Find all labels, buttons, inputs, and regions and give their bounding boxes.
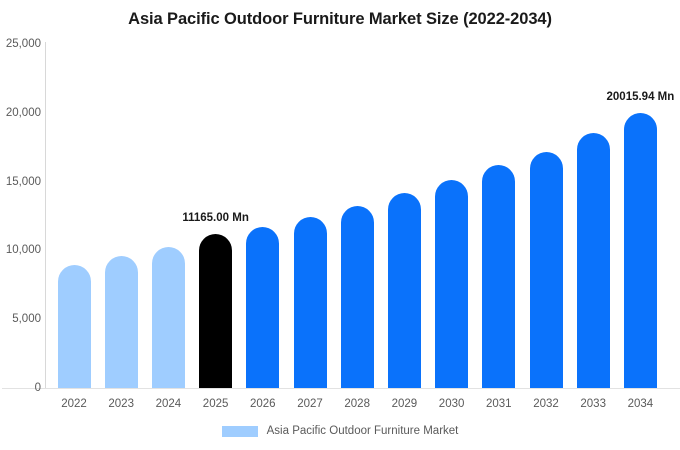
bar[interactable] — [58, 265, 91, 388]
bar-column[interactable] — [388, 44, 421, 388]
bar[interactable] — [482, 165, 515, 388]
x-axis-tick-label: 2023 — [108, 398, 134, 410]
bar[interactable] — [341, 206, 374, 388]
bar-column[interactable] — [530, 44, 563, 388]
x-axis-tick-label: 2028 — [344, 398, 370, 410]
bar-column[interactable] — [577, 44, 610, 388]
bar[interactable] — [199, 234, 232, 388]
bar[interactable] — [246, 227, 279, 388]
x-axis-line — [2, 388, 680, 389]
bar-column[interactable] — [246, 44, 279, 388]
x-axis-tick-label: 2029 — [392, 398, 418, 410]
x-axis-tick-label: 2022 — [61, 398, 87, 410]
y-axis-tick-label: 5,000 — [1, 313, 41, 325]
y-axis-tick-label: 25,000 — [1, 38, 41, 50]
bar-value-label: 11165.00 Mn — [182, 212, 249, 224]
legend-swatch-icon — [222, 426, 258, 437]
chart-title: Asia Pacific Outdoor Furniture Market Si… — [0, 10, 680, 29]
y-axis-tick-label: 20,000 — [1, 107, 41, 119]
bar[interactable] — [152, 247, 185, 388]
bar[interactable] — [577, 133, 610, 388]
x-axis-tick-label: 2026 — [250, 398, 276, 410]
bar[interactable] — [624, 113, 657, 388]
bar-column[interactable] — [482, 44, 515, 388]
x-axis-tick-label: 2034 — [628, 398, 654, 410]
bar-column[interactable] — [58, 44, 91, 388]
plot-area — [45, 44, 680, 388]
y-axis-tick-labels: 05,00010,00015,00020,00025,000 — [0, 0, 41, 450]
x-axis-tick-label: 2032 — [533, 398, 559, 410]
x-axis-tick-label: 2033 — [580, 398, 606, 410]
bar[interactable] — [388, 193, 421, 388]
bar-chart: Asia Pacific Outdoor Furniture Market Si… — [0, 0, 680, 450]
y-axis-tick-label: 15,000 — [1, 176, 41, 188]
x-axis-tick-label: 2030 — [439, 398, 465, 410]
x-axis-tick-label: 2024 — [156, 398, 182, 410]
bar-column[interactable] — [341, 44, 374, 388]
legend-label: Asia Pacific Outdoor Furniture Market — [267, 425, 459, 437]
chart-legend: Asia Pacific Outdoor Furniture Market — [0, 425, 680, 437]
bar-column[interactable] — [294, 44, 327, 388]
x-axis-tick-label: 2031 — [486, 398, 512, 410]
bar-column[interactable] — [152, 44, 185, 388]
bar[interactable] — [105, 256, 138, 388]
bar[interactable] — [530, 152, 563, 388]
x-axis-tick-label: 2025 — [203, 398, 229, 410]
y-axis-tick-label: 0 — [1, 382, 41, 394]
bar-column[interactable] — [435, 44, 468, 388]
bar[interactable] — [435, 180, 468, 388]
bar-value-label: 20015.94 Mn — [607, 91, 675, 103]
x-axis-tick-label: 2027 — [297, 398, 323, 410]
bar-column[interactable] — [105, 44, 138, 388]
y-axis-tick-label: 10,000 — [1, 244, 41, 256]
bar[interactable] — [294, 217, 327, 388]
